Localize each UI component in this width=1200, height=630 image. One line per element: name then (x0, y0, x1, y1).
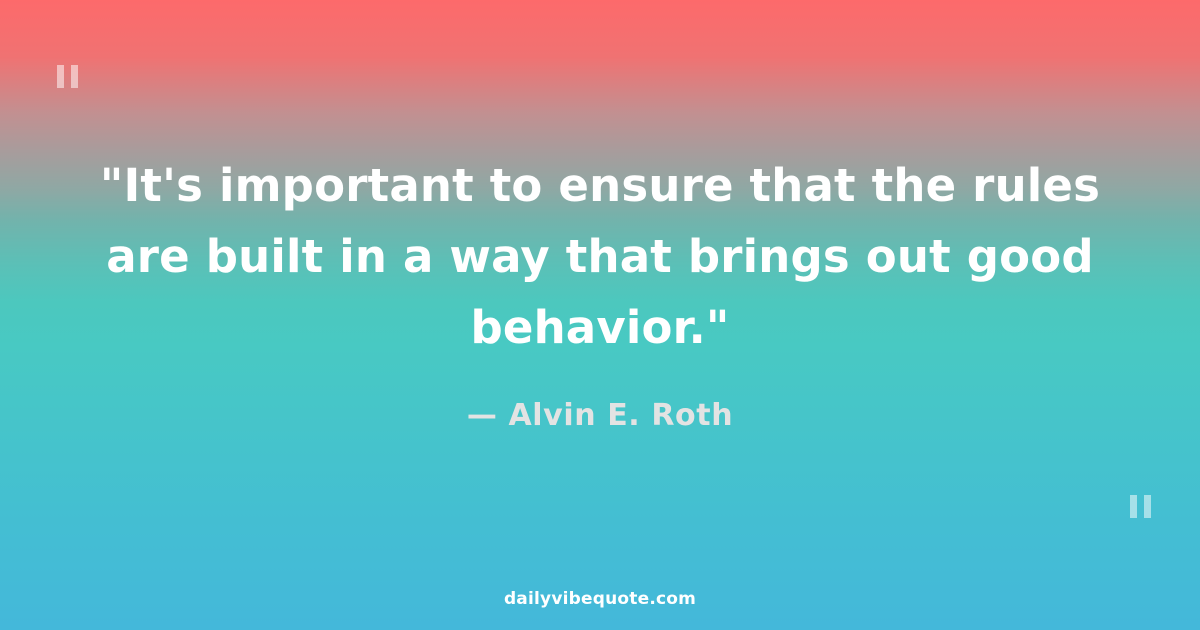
site-footer-url: dailyvibequote.com (0, 589, 1200, 609)
quote-card: "It's important to ensure that the rules… (0, 0, 1200, 630)
quote-attribution: — Alvin E. Roth (0, 398, 1200, 433)
quote-text: "It's important to ensure that the rules… (60, 150, 1140, 363)
quote-line: behavior." (60, 292, 1140, 363)
quote-line: are built in a way that brings out good (60, 221, 1140, 292)
quote-card-content: "It's important to ensure that the rules… (0, 0, 1200, 630)
quote-line: "It's important to ensure that the rules (60, 150, 1140, 221)
